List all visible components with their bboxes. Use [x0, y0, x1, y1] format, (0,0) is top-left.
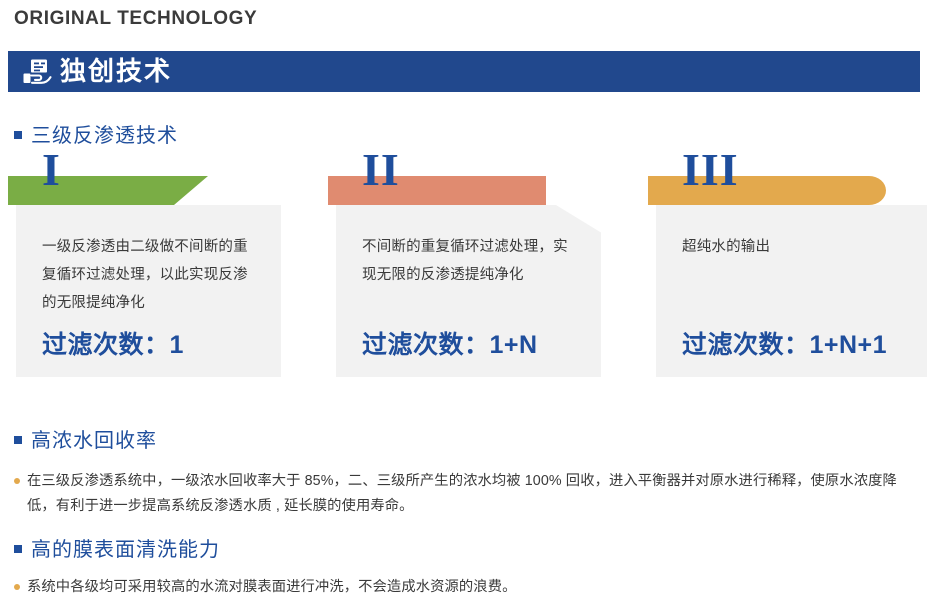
dot-bullet-icon [14, 478, 20, 484]
card-description: 一级反渗透由二级做不间断的重复循环过滤处理，以此实现反渗的无限提纯净化 [42, 233, 259, 317]
process-card-3: III 超纯水的输出 过滤次数：1+N+1 [648, 150, 928, 382]
card-description: 不间断的重复循环过滤处理，实现无限的反渗透提纯净化 [362, 233, 579, 289]
process-card-1: I 一级反渗透由二级做不间断的重复循环过滤处理，以此实现反渗的无限提纯净化 过滤… [8, 150, 288, 382]
section-paragraph-high-concentrate-recovery: 在三级反渗透系统中，一级浓水回收率大于 85%，二、三级所产生的浓水均被 100… [14, 469, 917, 519]
card-count-label: 过滤次数：1+N [362, 325, 538, 361]
hand-holding-document-icon [20, 57, 54, 87]
section-heading-high-concentrate-recovery: 高浓水回收率 [14, 424, 157, 453]
card-body: 不间断的重复循环过滤处理，实现无限的反渗透提纯净化 过滤次数：1+N [336, 205, 601, 377]
card-body: 超纯水的输出 过滤次数：1+N+1 [656, 205, 927, 377]
slide-root: ORIGINAL TECHNOLOGY 独创技术 三级反渗透技术 I 一级反渗透… [0, 0, 928, 611]
square-bullet-icon [14, 545, 22, 553]
section-banner: 独创技术 [8, 51, 920, 92]
paragraph-text: 在三级反渗透系统中，一级浓水回收率大于 85%，二、三级所产生的浓水均被 100… [27, 469, 917, 519]
section-heading-label: 高的膜表面清洗能力 [31, 533, 220, 562]
process-card-2: II 不间断的重复循环过滤处理，实现无限的反渗透提纯净化 过滤次数：1+N [328, 150, 608, 382]
section-heading-membrane-cleaning: 高的膜表面清洗能力 [14, 533, 220, 562]
card-count-label: 过滤次数：1 [42, 325, 184, 361]
card-ribbon [328, 176, 546, 205]
square-bullet-icon [14, 131, 22, 139]
paragraph-text: 系统中各级均可采用较高的水流对膜表面进行冲洗，不会造成水资源的浪费。 [27, 575, 917, 600]
dot-bullet-icon [14, 584, 20, 590]
square-bullet-icon [14, 436, 22, 444]
section-paragraph-membrane-cleaning: 系统中各级均可采用较高的水流对膜表面进行冲洗，不会造成水资源的浪费。 [14, 575, 917, 600]
card-ribbon [8, 176, 208, 205]
card-count-label: 过滤次数：1+N+1 [682, 325, 887, 361]
section-heading-three-stage-ro: 三级反渗透技术 [14, 119, 178, 148]
banner-title: 独创技术 [60, 58, 172, 84]
page-title: ORIGINAL TECHNOLOGY [14, 8, 257, 30]
card-numeral: III [682, 147, 739, 193]
card-numeral: I [42, 147, 61, 193]
card-numeral: II [362, 147, 400, 193]
card-description: 超纯水的输出 [682, 233, 905, 261]
card-body: 一级反渗透由二级做不间断的重复循环过滤处理，以此实现反渗的无限提纯净化 过滤次数… [16, 205, 281, 377]
section-heading-label: 高浓水回收率 [31, 424, 157, 453]
